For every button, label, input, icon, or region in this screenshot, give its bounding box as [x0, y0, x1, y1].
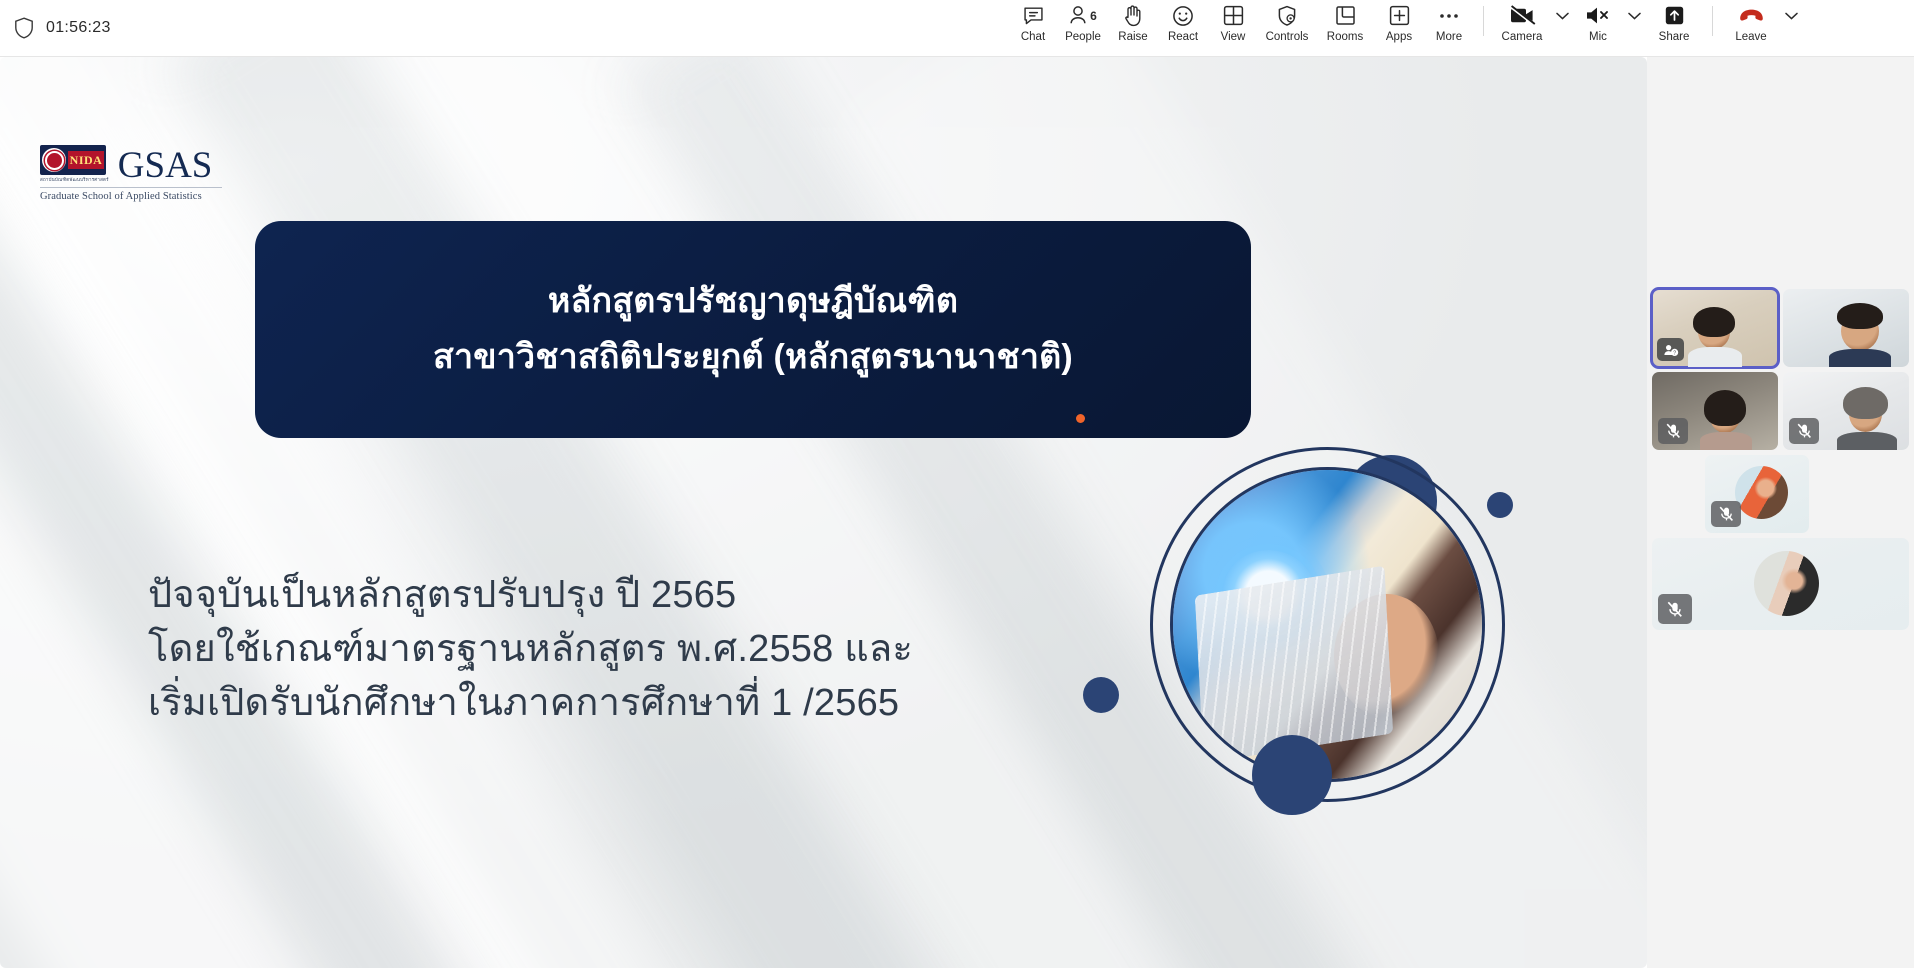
toolbar-rooms-button[interactable]: Rooms [1316, 0, 1374, 55]
toolbar-chat-label: Chat [1021, 31, 1045, 43]
participant-torso [1837, 432, 1897, 450]
slide-title-banner: หลักสูตรปรัชญาดุษฎีบัณฑิต สาขาวิชาสถิติป… [255, 221, 1251, 438]
toolbar-more-label: More [1436, 31, 1462, 43]
mic-muted-icon [1658, 418, 1688, 444]
toolbar-apps-label: Apps [1386, 31, 1412, 43]
shared-content-stage: NIDA สถาบันบัณฑิตพัฒนบริหารศาสตร์ GSAS G… [0, 57, 1647, 968]
laptop-photo-circle [1170, 467, 1485, 782]
people-icon: 6 [1069, 3, 1097, 28]
toolbar-react-button[interactable]: React [1158, 0, 1208, 55]
toolbar-mic-button[interactable]: Mic [1573, 0, 1623, 55]
nida-gsas-logo: NIDA สถาบันบัณฑิตพัฒนบริหารศาสตร์ GSAS G… [40, 145, 240, 202]
nida-seal-icon [42, 148, 66, 172]
toolbar-divider-2 [1712, 6, 1713, 36]
slide-graphic-cluster [1000, 447, 1620, 897]
toolbar-share-label: Share [1659, 31, 1690, 43]
gsas-full-name: Graduate School of Applied Statistics [40, 187, 222, 202]
recording-indicator: 01:56:23 [0, 17, 300, 39]
toolbar-mic-label: Mic [1589, 31, 1607, 43]
controls-shield-gear-icon [1276, 3, 1298, 28]
participant-torso [1700, 432, 1752, 450]
toolbar-controls-button[interactable]: Controls [1258, 0, 1316, 55]
gsas-acronym: GSAS [118, 149, 213, 183]
leave-chevron-down-icon[interactable] [1780, 0, 1802, 55]
hangup-phone-icon [1738, 3, 1765, 28]
presentation-slide[interactable]: NIDA สถาบันบัณฑิตพัฒนบริหารศาสตร์ GSAS G… [0, 57, 1647, 968]
leave-meeting-label: Leave [1735, 31, 1766, 43]
mic-muted-icon [1658, 594, 1692, 624]
hand-on-keyboard [1334, 594, 1439, 718]
more-ellipsis-icon [1438, 3, 1460, 28]
people-count-badge: 6 [1090, 9, 1097, 23]
participant-torso [1829, 349, 1891, 367]
slide-body-line-3: เริ่มเปิดรับนักศึกษาในภาคการศึกษาที่ 1 /… [148, 677, 1028, 731]
slide-title-line-2: สาขาวิชาสถิติประยุกต์ (หลักสูตรนานาชาติ) [433, 338, 1073, 377]
slide-body-line-1: ปัจจุบันเป็นหลักสูตรปรับปรุง ปี 2565 [148, 569, 1028, 623]
participant-tile-6[interactable] [1652, 538, 1909, 630]
slide-title-line-1: หลักสูตรปรัชญาดุษฎีบัณฑิต [548, 282, 958, 321]
slide-body-line-2: โดยใช้เกณฑ์มาตรฐานหลักสูตร พ.ศ.2558 และ [148, 623, 1028, 677]
toolbar-view-label: View [1221, 31, 1246, 43]
toolbar-camera-label: Camera [1502, 31, 1543, 43]
toolbar-more-button[interactable]: More [1424, 0, 1474, 55]
laptop-photo [1173, 470, 1482, 779]
participant-avatar [1735, 466, 1788, 519]
participant-tile-3[interactable] [1652, 372, 1778, 450]
slide-body-text: ปัจจุบันเป็นหลักสูตรปรับปรุง ปี 2565 โดย… [148, 569, 1028, 731]
toolbar-raise-hand-button[interactable]: Raise [1108, 0, 1158, 55]
participant-panel: ? [1647, 57, 1914, 968]
svg-text:?: ? [1673, 350, 1676, 356]
cloud-hologram-graphic [1222, 550, 1315, 637]
navy-circle-bottom [1252, 735, 1332, 815]
recording-timer: 01:56:23 [46, 19, 111, 37]
toolbar-people-button[interactable]: 6 People [1058, 0, 1108, 55]
shield-icon [14, 17, 34, 39]
share-screen-up-arrow-icon [1664, 3, 1685, 28]
toolbar-rooms-label: Rooms [1327, 31, 1363, 43]
camera-chevron-down-icon[interactable] [1551, 0, 1573, 55]
navy-dot-left [1083, 677, 1119, 713]
participant-tile-4[interactable] [1783, 372, 1909, 450]
rooms-icon [1335, 3, 1356, 28]
nida-thai-subtitle: สถาบันบัณฑิตพัฒนบริหารศาสตร์ [40, 176, 109, 183]
toolbar-chat-button[interactable]: Chat [1008, 0, 1058, 55]
mic-speaker-off-icon [1585, 3, 1611, 28]
raise-hand-icon [1123, 3, 1143, 28]
participant-hair [1693, 307, 1735, 337]
mic-chevron-down-icon[interactable] [1623, 0, 1645, 55]
mic-muted-icon [1711, 501, 1741, 527]
mic-muted-icon [1789, 418, 1819, 444]
toolbar-raise-label: Raise [1118, 31, 1147, 43]
toolbar-camera-button[interactable]: Camera [1493, 0, 1551, 55]
toolbar-react-label: React [1168, 31, 1198, 43]
apps-plus-icon [1389, 3, 1410, 28]
participant-hair [1704, 390, 1746, 426]
camera-off-icon [1509, 3, 1536, 28]
navy-dot-right [1487, 492, 1513, 518]
participant-tile-5[interactable] [1705, 455, 1809, 533]
participant-tile-2[interactable] [1783, 289, 1909, 367]
nida-wordmark: NIDA [68, 151, 104, 169]
toolbar-actions: Chat 6 People Raise [1008, 0, 1802, 57]
toolbar-view-button[interactable]: View [1208, 0, 1258, 55]
participant-tile-grid: ? [1652, 289, 1909, 630]
participant-tile-1[interactable]: ? [1652, 289, 1778, 367]
nida-logo-mark: NIDA [40, 145, 106, 175]
meeting-toolbar: 01:56:23 Chat 6 People [0, 0, 1914, 57]
toolbar-people-label: People [1065, 31, 1101, 43]
chat-icon [1022, 3, 1045, 28]
orange-accent-dot [1076, 414, 1085, 423]
participant-avatar [1754, 551, 1819, 616]
toolbar-apps-button[interactable]: Apps [1374, 0, 1424, 55]
toolbar-controls-label: Controls [1266, 31, 1309, 43]
participant-hair [1843, 387, 1888, 419]
toolbar-divider-1 [1483, 6, 1484, 36]
slide-shadow-band [163, 57, 1058, 968]
speaker-badge-icon: ? [1657, 338, 1684, 361]
participant-hair [1837, 303, 1883, 329]
leave-meeting-button[interactable]: Leave [1722, 0, 1780, 55]
view-grid-icon [1223, 3, 1244, 28]
react-smiley-icon [1172, 3, 1194, 28]
participant-torso [1688, 347, 1742, 367]
toolbar-share-button[interactable]: Share [1645, 0, 1703, 55]
